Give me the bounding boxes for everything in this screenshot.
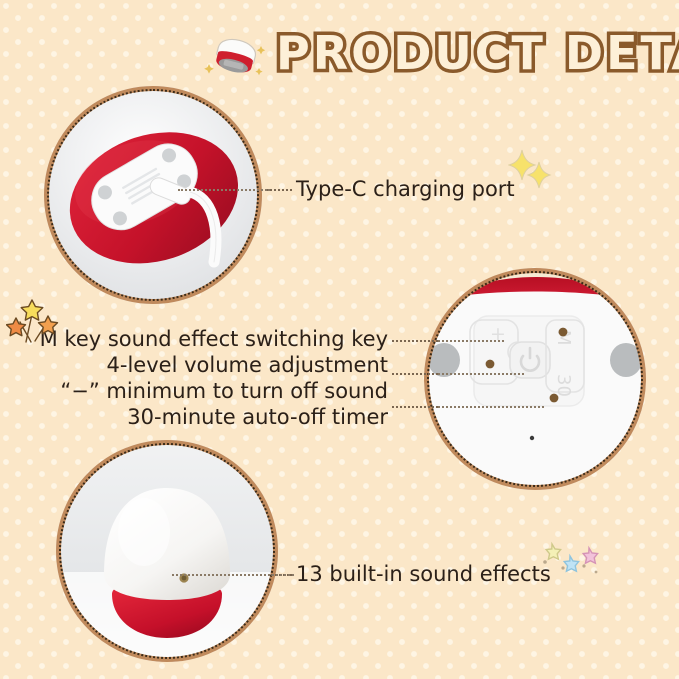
- leader-line-volume: [392, 373, 438, 375]
- star-cluster-icon: [6, 298, 64, 352]
- callout-line-minimum: “−” minimum to turn off sound: [18, 378, 388, 404]
- callout-label-sound-effects: 13 built-in sound effects: [296, 562, 551, 586]
- callout-label-controls: M key sound effect switching key 4-level…: [18, 326, 388, 430]
- callout-line-volume: 4-level volume adjustment: [18, 352, 388, 378]
- callout-line-m-key: M key sound effect switching key: [18, 326, 388, 352]
- mushroom-lamp-icon: [203, 24, 269, 86]
- leader-line-volume-inner: [438, 373, 524, 375]
- leader-line-m-key: [392, 340, 438, 342]
- callout-line-timer: 30-minute auto-off timer: [18, 404, 388, 430]
- photo-stitch-2: [427, 271, 643, 487]
- leader-line-sound-inner: [172, 574, 294, 576]
- callout-label-type-c: Type-C charging port: [296, 177, 515, 201]
- leader-line-timer: [392, 406, 438, 408]
- infographic-page: PRODUCT DETAILS: [0, 0, 679, 679]
- diamond-sparkle-icon: [508, 148, 552, 190]
- photo-stitch-1: [47, 89, 259, 301]
- page-title-text: PRODUCT DETAILS: [276, 26, 679, 80]
- flower-sparkles-icon: [540, 540, 600, 584]
- page-title: PRODUCT DETAILS: [276, 22, 679, 84]
- leader-line-type-c-inner: [178, 189, 270, 191]
- photo-stitch-3: [59, 443, 275, 659]
- leader-line-timer-inner: [438, 406, 544, 408]
- leader-line-m-key-inner: [438, 340, 504, 342]
